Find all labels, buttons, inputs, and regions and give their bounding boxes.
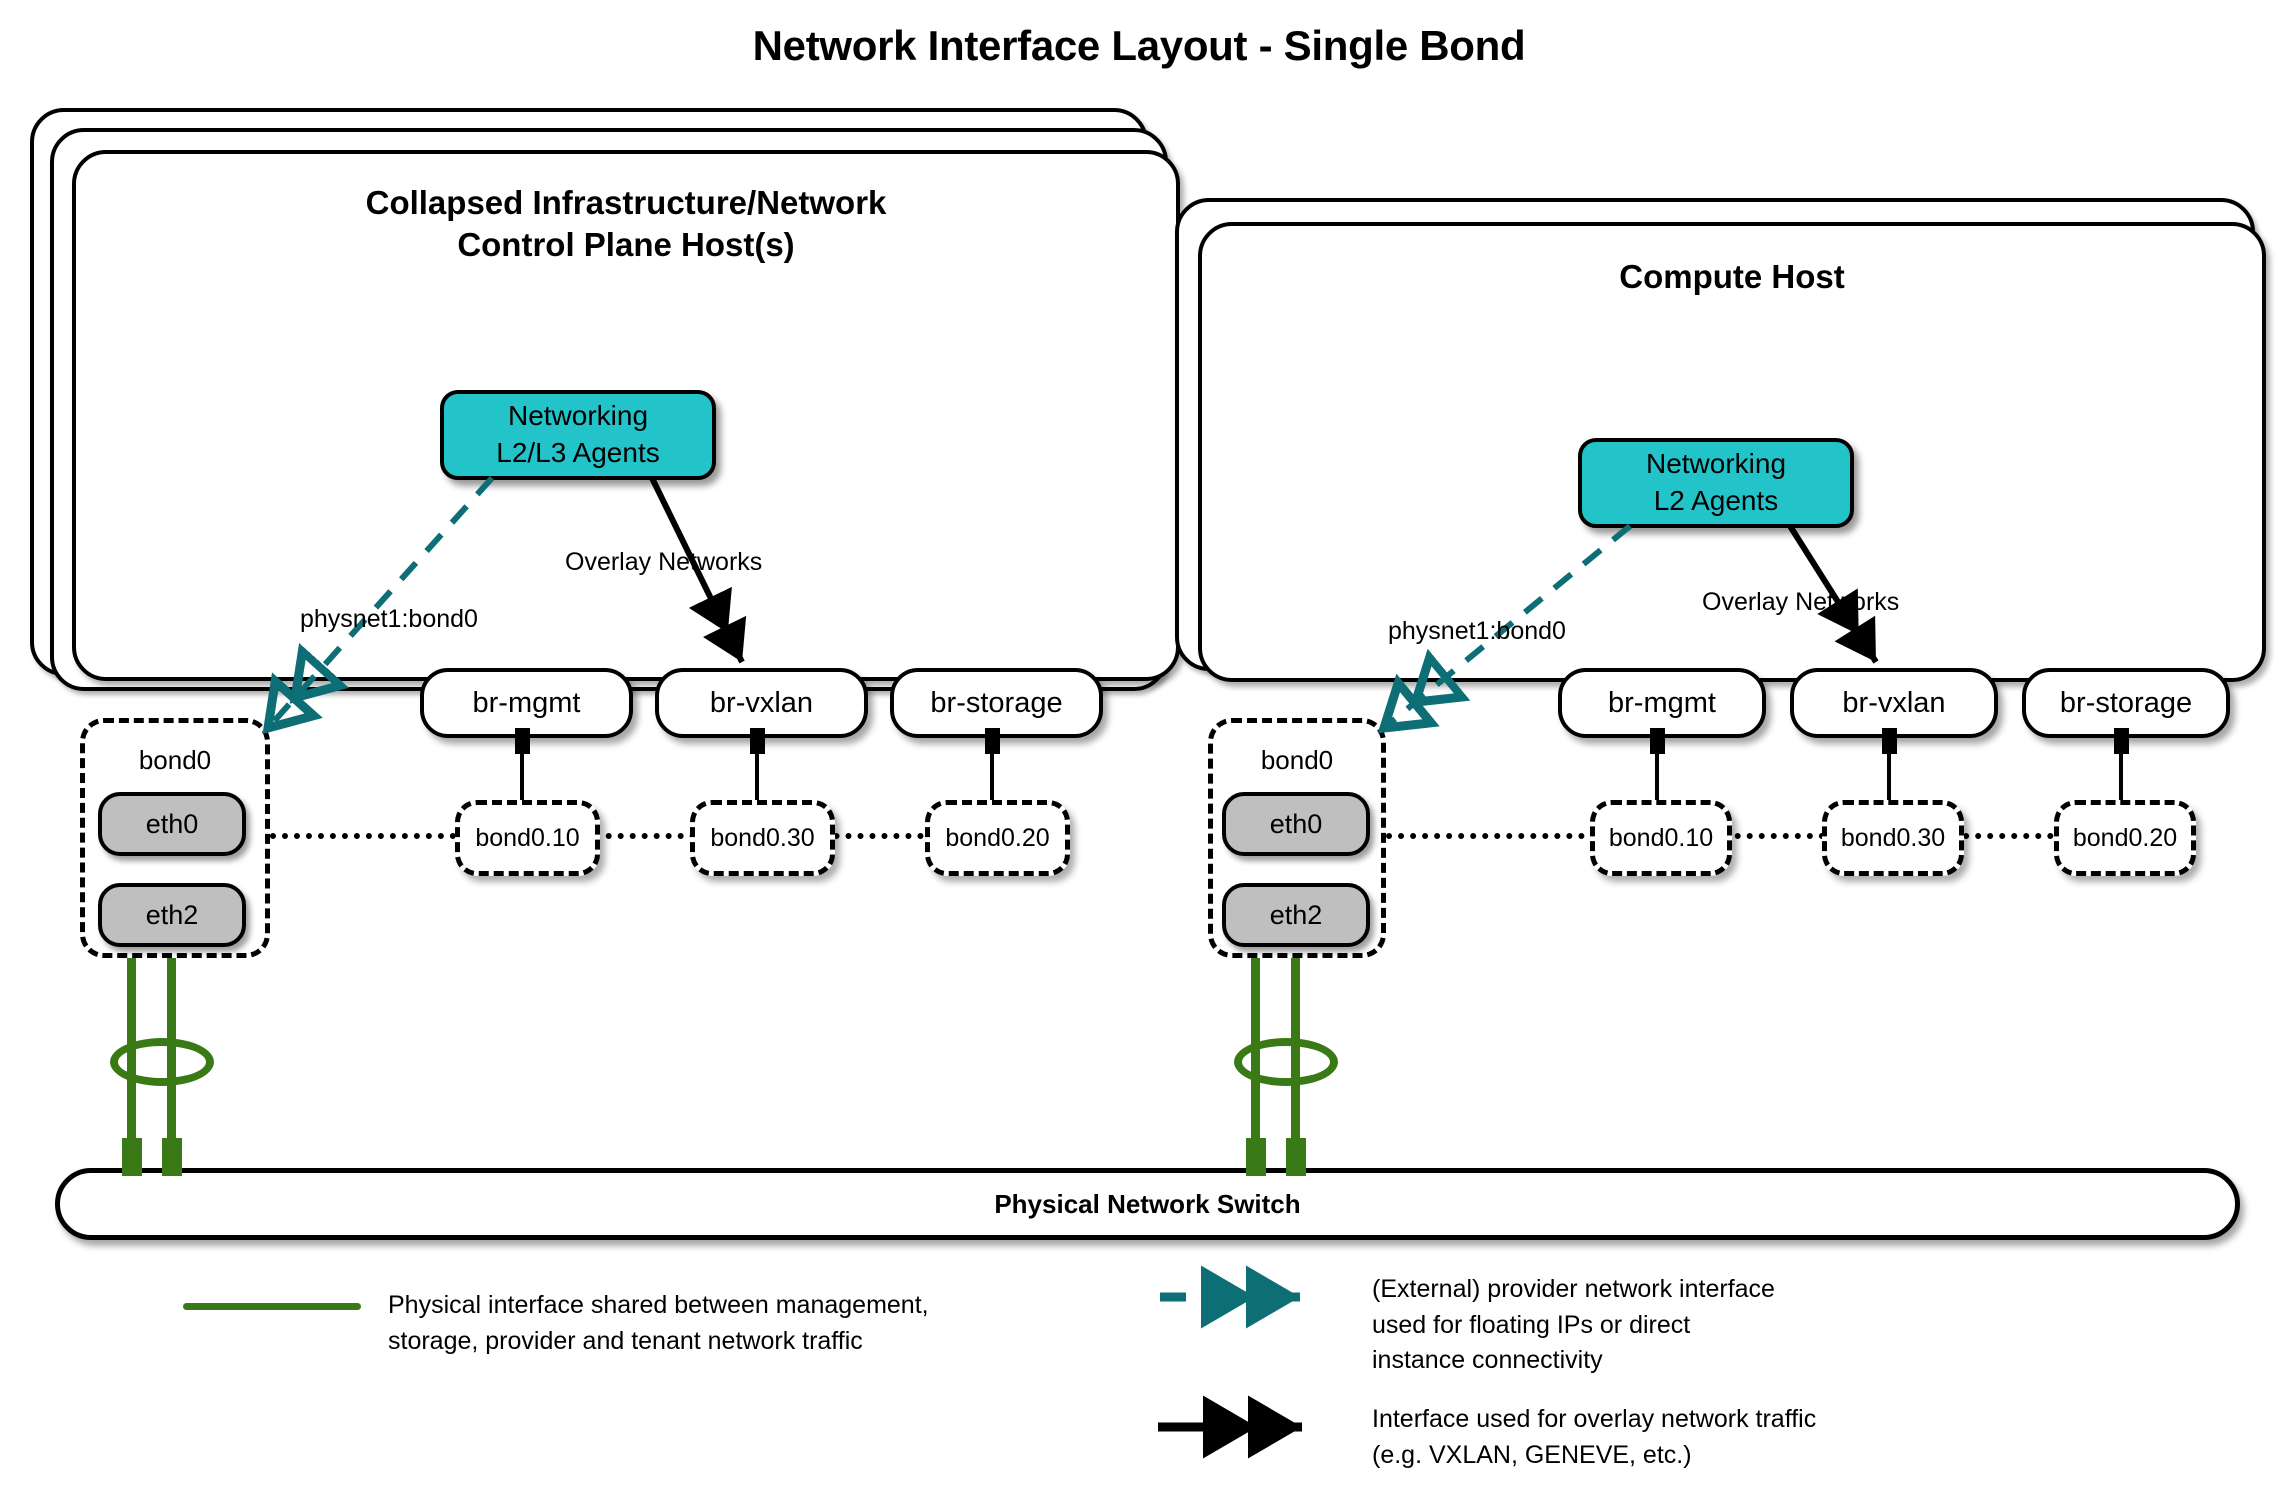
- page-title: Network Interface Layout - Single Bond: [0, 22, 2278, 70]
- vlan-box-bond010-control-plane[interactable]: bond0.10: [455, 800, 600, 876]
- edge-label-overlay-compute: Overlay Networks: [1702, 588, 1899, 617]
- vlan-trunk-compute: [1374, 833, 2102, 839]
- cable-bundle-ring-control-plane: [110, 1038, 214, 1086]
- vlan-label: bond0.30: [710, 824, 814, 853]
- edge-label-provider-control-plane: physnet1:bond0: [300, 605, 478, 634]
- bridge-label: br-mgmt: [1608, 687, 1716, 720]
- bridge-stub-br-storage-compute: [2114, 728, 2129, 754]
- agent-label-line2: L2/L3 Agents: [496, 435, 659, 472]
- legend-text-overlay: Interface used for overlay network traff…: [1372, 1402, 1816, 1473]
- bridge-stub-br-vxlan-compute: [1882, 728, 1897, 754]
- vlan-label: bond0.10: [475, 824, 579, 853]
- edge-label-overlay-control-plane: Overlay Networks: [565, 548, 762, 577]
- host-title-compute: Compute Host: [1202, 256, 2262, 298]
- edge-label-provider-compute: physnet1:bond0: [1388, 617, 1566, 646]
- nic-box-eth2-control-plane[interactable]: eth2: [98, 883, 246, 947]
- vlan-box-bond030-compute[interactable]: bond0.30: [1822, 800, 1964, 876]
- nic-label: eth0: [1270, 809, 1323, 840]
- bridge-stub-br-vxlan-control-plane: [750, 728, 765, 754]
- switch-label: Physical Network Switch: [994, 1189, 1300, 1220]
- vlan-label: bond0.30: [1841, 824, 1945, 853]
- nic-label: eth0: [146, 809, 199, 840]
- cable-plug-eth2-compute: [1286, 1138, 1306, 1176]
- bridge-label: br-mgmt: [473, 687, 581, 720]
- cable-plug-eth0-compute: [1246, 1138, 1266, 1176]
- bridge-stub-br-storage-control-plane: [985, 728, 1000, 754]
- bridge-label: br-storage: [2060, 687, 2192, 720]
- nic-label: eth2: [1270, 900, 1323, 931]
- agent-label-line2: L2 Agents: [1654, 483, 1779, 520]
- agent-label-line1: Networking: [508, 398, 648, 435]
- vlan-label: bond0.20: [945, 824, 1049, 853]
- vlan-box-bond030-control-plane[interactable]: bond0.30: [690, 800, 835, 876]
- bridge-stub-br-mgmt-compute: [1650, 728, 1665, 754]
- legend-text-physical: Physical interface shared between manage…: [388, 1288, 929, 1359]
- bond-label-compute: bond0: [1213, 745, 1381, 776]
- cable-plug-eth2-control-plane: [162, 1138, 182, 1176]
- nic-label: eth2: [146, 900, 199, 931]
- physical-network-switch[interactable]: Physical Network Switch: [55, 1168, 2240, 1240]
- vlan-trunk-control-plane: [258, 833, 1020, 839]
- agent-label-line1: Networking: [1646, 446, 1786, 483]
- legend-marker-physical-line: [183, 1303, 361, 1310]
- vlan-box-bond010-compute[interactable]: bond0.10: [1590, 800, 1732, 876]
- bond-label-control-plane: bond0: [85, 745, 265, 776]
- agent-box-control-plane[interactable]: Networking L2/L3 Agents: [440, 390, 716, 480]
- nic-box-eth0-control-plane[interactable]: eth0: [98, 792, 246, 856]
- vlan-label: bond0.10: [1609, 824, 1713, 853]
- nic-box-eth0-compute[interactable]: eth0: [1222, 792, 1370, 856]
- bridge-label: br-vxlan: [1842, 687, 1945, 720]
- bridge-label: br-vxlan: [710, 687, 813, 720]
- legend-text-provider: (External) provider network interface us…: [1372, 1272, 1775, 1379]
- host-title-control-plane: Collapsed Infrastructure/Network Control…: [76, 182, 1176, 266]
- bridge-stub-br-mgmt-control-plane: [515, 728, 530, 754]
- vlan-box-bond020-control-plane[interactable]: bond0.20: [925, 800, 1070, 876]
- vlan-box-bond020-compute[interactable]: bond0.20: [2054, 800, 2196, 876]
- diagram-canvas: Network Interface Layout - Single Bond C…: [0, 0, 2278, 1492]
- cable-plug-eth0-control-plane: [122, 1138, 142, 1176]
- agent-box-compute[interactable]: Networking L2 Agents: [1578, 438, 1854, 528]
- bridge-label: br-storage: [930, 687, 1062, 720]
- nic-box-eth2-compute[interactable]: eth2: [1222, 883, 1370, 947]
- cable-bundle-ring-compute: [1234, 1038, 1338, 1086]
- vlan-label: bond0.20: [2073, 824, 2177, 853]
